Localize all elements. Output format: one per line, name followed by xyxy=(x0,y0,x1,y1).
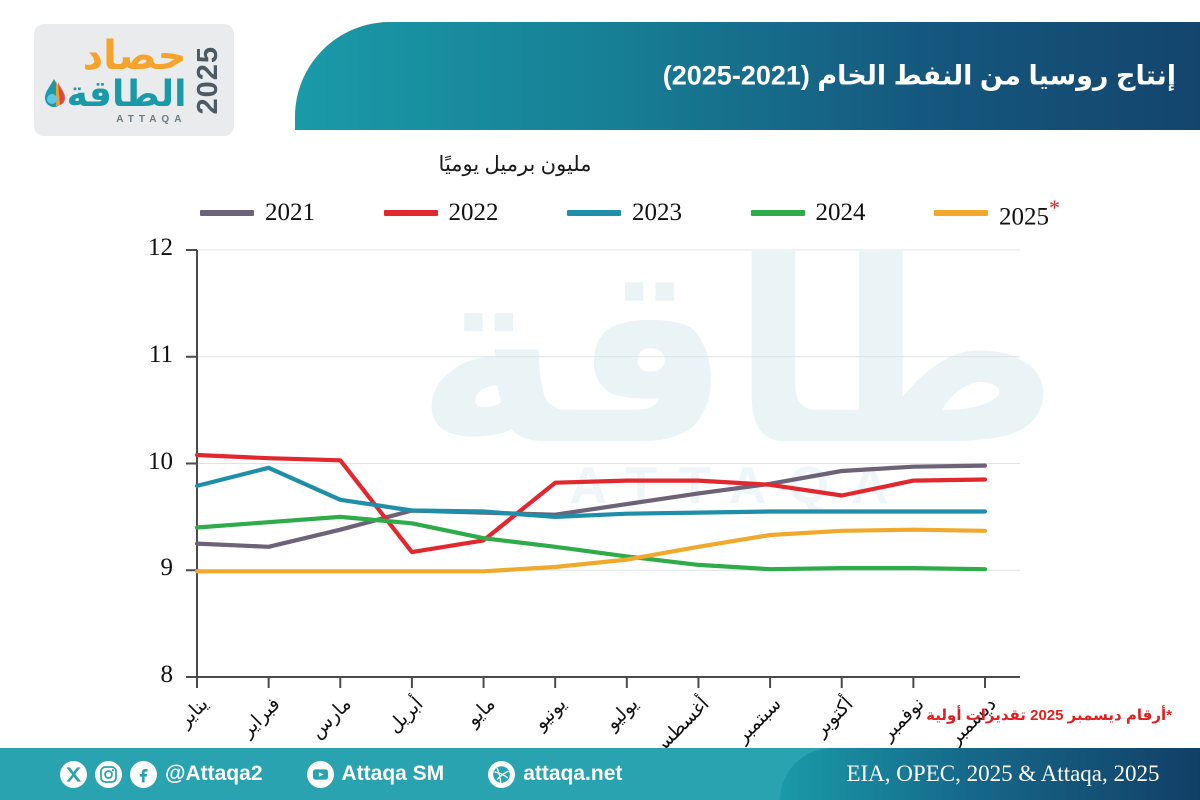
legend-item-2021[interactable]: 2021 xyxy=(200,199,315,227)
legend-label-2022: 2022 xyxy=(449,199,499,227)
legend-item-2022[interactable]: 2022 xyxy=(384,199,499,227)
source-text: EIA, OPEC, 2025 & Attaqa, 2025 xyxy=(820,761,1159,787)
social-group-handle[interactable]: @Attaqa2 xyxy=(60,761,263,788)
y-axis-tick-label-9: 9 xyxy=(127,554,173,582)
line-chart xyxy=(0,0,1200,800)
youtube-icon[interactable] xyxy=(307,761,334,788)
legend-item-2025[interactable]: 2025* xyxy=(934,195,1060,231)
legend-label-2023: 2023 xyxy=(632,199,682,227)
footer-website[interactable]: attaqa.net xyxy=(523,762,622,786)
legend-item-2024[interactable]: 2024 xyxy=(751,199,866,227)
legend-swatch-2023 xyxy=(567,210,621,216)
y-axis-tick-label-10: 10 xyxy=(127,448,173,476)
legend-swatch-2024 xyxy=(751,210,805,216)
footer-source-band: EIA, OPEC, 2025 & Attaqa, 2025 xyxy=(780,748,1200,800)
legend-swatch-2025 xyxy=(934,210,988,216)
legend-asterisk: * xyxy=(1049,195,1060,220)
legend-label-2025: 2025* xyxy=(999,195,1060,231)
page-footer: @Attaqa2 Attaqa SM attaqa.net EIA, OPEC,… xyxy=(0,748,1200,800)
infographic-page: طاقة ATTAQA إنتاج روسيا من النفط الخام (… xyxy=(0,0,1200,800)
series-line-2021[interactable] xyxy=(197,466,985,547)
legend-swatch-2021 xyxy=(200,210,254,216)
footer-youtube[interactable]: Attaqa SM xyxy=(342,762,445,786)
y-axis-tick-label-12: 12 xyxy=(127,234,173,262)
facebook-icon[interactable] xyxy=(130,761,157,788)
legend-label-2021: 2021 xyxy=(265,199,315,227)
chart-footnote: *أرقام ديسمبر 2025 تقديرات أولية xyxy=(926,706,1172,724)
x-icon[interactable] xyxy=(60,761,87,788)
globe-icon[interactable] xyxy=(488,761,515,788)
legend-swatch-2022 xyxy=(384,210,438,216)
y-axis-tick-label-8: 8 xyxy=(127,661,173,689)
chart-plot-area: 89101112ينايرفبرايرمارسأبريلمايويونيويول… xyxy=(0,0,1200,800)
social-group-youtube[interactable]: Attaqa SM xyxy=(307,761,445,788)
instagram-icon[interactable] xyxy=(95,761,122,788)
chart-legend: 20212022202320242025* xyxy=(200,196,1060,230)
social-group-website[interactable]: attaqa.net xyxy=(488,761,622,788)
chart-subtitle: مليون برميل يوميًا xyxy=(0,152,1030,177)
legend-label-2024: 2024 xyxy=(816,199,866,227)
footer-handle[interactable]: @Attaqa2 xyxy=(165,762,263,786)
legend-item-2023[interactable]: 2023 xyxy=(567,199,682,227)
footer-social-links: @Attaqa2 Attaqa SM attaqa.net xyxy=(60,748,622,800)
y-axis-tick-label-11: 11 xyxy=(127,341,173,369)
